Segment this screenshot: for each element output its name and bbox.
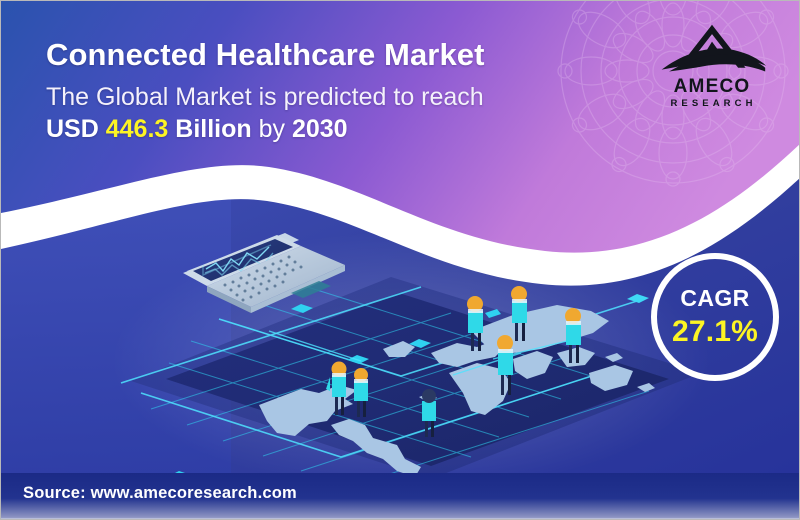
subtitle-line-1: The Global Market is predicted to reach <box>46 83 566 113</box>
connector-word: by <box>259 115 285 143</box>
laptop-icon <box>183 233 345 313</box>
unit-label: Billion <box>175 115 251 143</box>
cagr-badge: CAGR 27.1% <box>651 253 779 381</box>
market-value: 446.3 <box>106 115 169 143</box>
page-title: Connected Healthcare Market <box>46 37 566 73</box>
logo-name: AMECO <box>647 77 777 96</box>
currency-label: USD <box>46 115 99 143</box>
header-text-block: Connected Healthcare Market The Global M… <box>46 37 566 144</box>
forecast-year: 2030 <box>292 115 348 143</box>
ameco-triangle-swoosh-icon <box>656 21 768 79</box>
logo-tagline: RESEARCH <box>650 99 777 109</box>
subtitle-line-2: USD 446.3 Billion by 2030 <box>46 114 566 144</box>
cagr-value: 27.1% <box>672 317 758 347</box>
source-text: Source: www.amecoresearch.com <box>23 484 297 503</box>
brand-logo[interactable]: AMECO RESEARCH <box>647 21 777 126</box>
source-bar: Source: www.amecoresearch.com <box>1 473 800 519</box>
infographic-canvas: Connected Healthcare Market The Global M… <box>0 0 800 520</box>
cagr-label: CAGR <box>680 287 749 310</box>
